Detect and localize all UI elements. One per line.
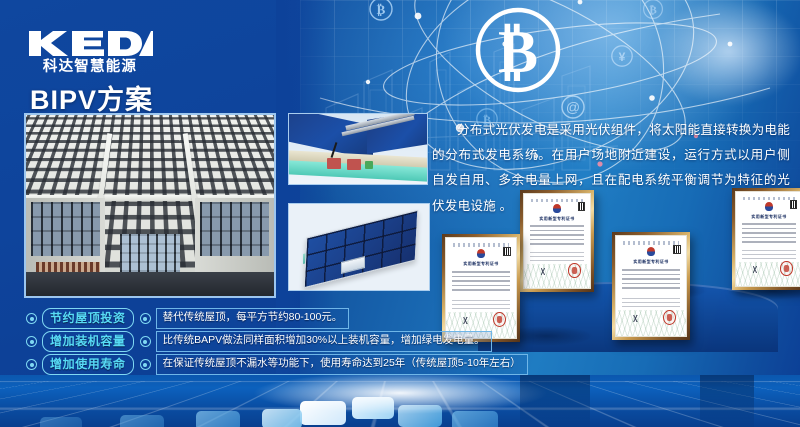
bullet-icon — [26, 336, 37, 347]
certificate-item[interactable]: 实用新型专利证书 — [732, 188, 800, 290]
bitcoin-badge-glyph: ₿ — [377, 2, 386, 17]
bullet-icon — [26, 359, 37, 370]
certificate-header-pattern — [531, 199, 584, 203]
certificate-title: 实用新型专利证书 — [446, 261, 516, 267]
certificate-frame: 实用新型专利证书 — [612, 232, 690, 340]
certificate-qr-icon — [790, 200, 797, 208]
at-badge-glyph: @ — [566, 99, 580, 115]
feature-row: 节约屋顶投资 替代传统屋顶，每平方节约80-100元。 — [26, 308, 426, 329]
certificate-title: 实用新型专利证书 — [616, 259, 686, 265]
yen-badge-icon: ¥ — [610, 44, 634, 68]
certificate-header-pattern — [453, 243, 509, 247]
certificate-page: 实用新型专利证书 — [445, 237, 517, 339]
certificate-emblem-icon — [553, 204, 561, 212]
certificate-frame: 实用新型专利证书 — [732, 188, 800, 290]
certificate-emblem-icon — [477, 249, 485, 258]
certificate-title: 实用新型专利证书 — [524, 216, 590, 222]
certificate-item[interactable]: 实用新型专利证书 — [520, 190, 594, 292]
photo-floor-row — [26, 272, 274, 296]
certificate-header-pattern — [623, 241, 679, 245]
certificate-frame: 实用新型专利证书 — [520, 190, 594, 292]
certificate-title: 实用新型专利证书 — [736, 214, 800, 220]
certificates-group: 实用新型专利证书 实用新型专利证书 — [438, 186, 800, 356]
cad-module-image — [288, 203, 430, 291]
brand-name-cn: 科达智慧能源 — [27, 60, 153, 75]
certificate-body-lines — [742, 223, 796, 246]
certificate-note-block — [452, 300, 509, 312]
bullet-icon — [140, 359, 151, 370]
bitcoin-logo-icon: ₿ — [472, 4, 564, 96]
keda-wordmark-icon — [27, 28, 153, 58]
cad-clip — [347, 159, 361, 170]
certificate-frame: 实用新型专利证书 — [442, 234, 520, 342]
certificate-qr-icon — [503, 247, 511, 256]
feature-badge: 增加使用寿命 — [42, 354, 134, 375]
bullet-icon — [26, 313, 37, 324]
band-shade — [520, 375, 590, 427]
bitcoin-badge-glyph-3: ₿ — [649, 5, 657, 17]
yen-badge-glyph: ¥ — [619, 50, 626, 64]
certificate-emblem-icon — [765, 202, 773, 210]
bitcoin-badge-icon: ₿ — [368, 0, 394, 22]
page-title: BIPV方案 — [30, 78, 153, 117]
photo-end-glazing — [120, 234, 180, 274]
certificate-signature — [535, 268, 552, 275]
feature-badge: 增加装机容量 — [42, 331, 134, 352]
bitcoin-badge-icon-3: ₿ — [642, 0, 664, 20]
bullet-icon — [140, 336, 151, 347]
certificate-body-lines — [452, 271, 509, 294]
bullet-icon — [140, 313, 151, 324]
certificate-item[interactable]: 实用新型专利证书 — [612, 232, 690, 340]
bottom-decorative-band — [0, 375, 800, 427]
certificate-seal-icon — [780, 261, 793, 276]
band-shade — [700, 375, 754, 427]
certificate-page: 实用新型专利证书 — [523, 193, 591, 289]
certificate-qr-icon — [673, 245, 681, 254]
certificate-signature — [747, 266, 764, 273]
tile — [40, 417, 82, 427]
feature-description: 在保证传统屋顶不漏水等功能下，使用寿命达到25年（传统屋顶5-10年左右） — [156, 354, 528, 375]
feature-description: 替代传统屋顶，每平方节约80-100元。 — [156, 308, 350, 329]
feature-row: 增加使用寿命 在保证传统屋顶不漏水等功能下，使用寿命达到25年（传统屋顶5-10… — [26, 354, 426, 375]
photo-window — [31, 202, 100, 256]
certificate-seal-icon — [568, 263, 581, 278]
certificate-qr-icon — [578, 202, 585, 210]
certificate-body-lines — [622, 269, 679, 292]
certificate-header-pattern — [743, 197, 796, 201]
cad-detail-image — [288, 113, 428, 185]
certificate-note-block — [742, 250, 796, 261]
certificate-note-block — [622, 298, 679, 310]
certificate-page: 实用新型专利证书 — [735, 191, 800, 287]
photo-window — [200, 202, 269, 256]
certificate-body-lines — [530, 225, 584, 248]
feature-list: 节约屋顶投资 替代传统屋顶，每平方节约80-100元。 增加装机容量 比传统BA… — [26, 308, 426, 377]
building-photo — [24, 113, 276, 298]
certificate-note-block — [530, 252, 584, 263]
feature-row: 增加装机容量 比传统BAPV做法同样面积增加30%以上装机容量，增加绿电发电量。 — [26, 331, 426, 352]
certificate-emblem-icon — [647, 247, 655, 256]
cad-clip-green — [365, 161, 373, 169]
brand-logo: 科达智慧能源 — [27, 28, 153, 75]
bitcoin-logo-glyph: ₿ — [498, 19, 538, 85]
certificate-signature — [457, 317, 475, 324]
cad-clip — [327, 158, 341, 169]
feature-badge: 节约屋顶投资 — [42, 308, 134, 329]
certificate-page: 实用新型专利证书 — [615, 235, 687, 337]
poster-root: ₿ ₿ ¥ @ ₿ ₿ — [0, 0, 800, 427]
cad-module-body — [304, 210, 419, 289]
at-badge-icon: @ — [560, 94, 586, 120]
certificate-signature — [627, 315, 645, 322]
certificate-item[interactable]: 实用新型专利证书 — [442, 234, 520, 342]
tile — [120, 415, 164, 427]
feature-description: 比传统BAPV做法同样面积增加30%以上装机容量，增加绿电发电量。 — [156, 331, 492, 352]
